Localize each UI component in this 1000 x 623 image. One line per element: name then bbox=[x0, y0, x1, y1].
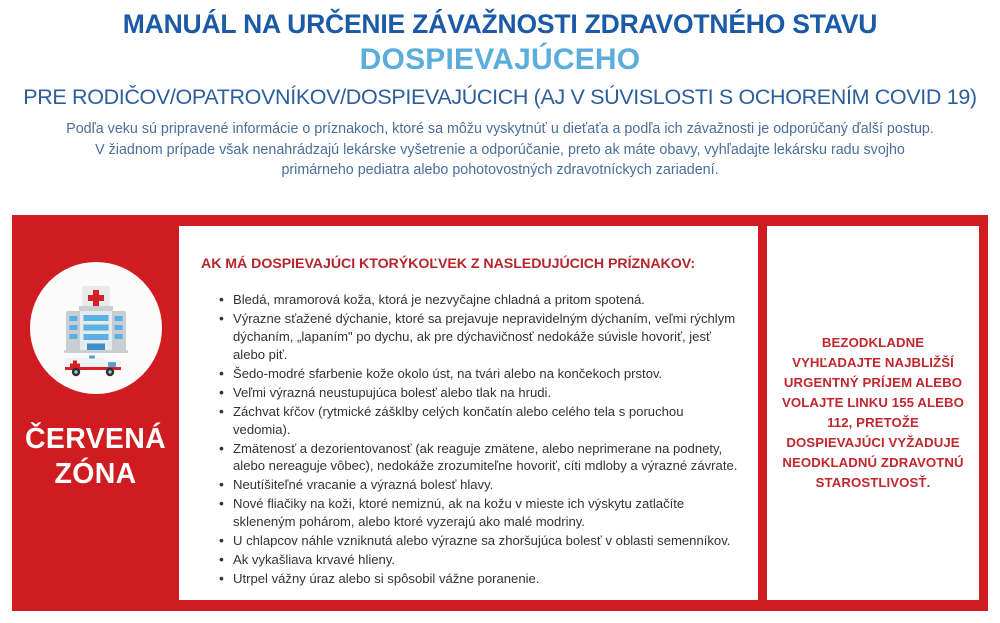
list-item: Ak vykašliava krvavé hlieny. bbox=[219, 551, 738, 569]
list-item: Veľmi výrazná neustupujúca bolesť alebo … bbox=[219, 384, 738, 402]
header: MANUÁL NA URČENIE ZÁVAŽNOSTI ZDRAVOTNÉHO… bbox=[0, 0, 1000, 180]
intro-paragraph: Podľa veku sú pripravené informácie o pr… bbox=[14, 119, 986, 180]
page-subtitle-age-group: DOSPIEVAJÚCEHO bbox=[14, 40, 986, 81]
zone-label-line: ČERVENÁ bbox=[25, 422, 166, 457]
intro-line: V žiadnom prípade však nenahrádzajú leká… bbox=[14, 140, 986, 160]
symptoms-heading: AK MÁ DOSPIEVAJÚCI KTORÝKOĽVEK Z NASLEDU… bbox=[201, 256, 738, 272]
list-item: U chlapcov náhle vzniknutá alebo výrazne… bbox=[219, 532, 738, 550]
recommended-action-box: BEZODKLADNE VYHĽADAJTE NAJBLIŽŠÍ URGENTN… bbox=[767, 226, 979, 600]
zone-label: ČERVENÁ ZÓNA bbox=[25, 422, 166, 492]
list-item: Výrazne sťažené dýchanie, ktoré sa preja… bbox=[219, 310, 738, 364]
symptoms-box: AK MÁ DOSPIEVAJÚCI KTORÝKOĽVEK Z NASLEDU… bbox=[179, 226, 758, 600]
poster-page: MANUÁL NA URČENIE ZÁVAŽNOSTI ZDRAVOTNÉHO… bbox=[0, 0, 1000, 623]
hospital-ambulance-icon bbox=[30, 262, 162, 394]
list-item: Utrpel vážny úraz alebo si spôsobil vážn… bbox=[219, 570, 738, 588]
list-item: Nové fliačiky na koži, ktoré nemiznú, ak… bbox=[219, 495, 738, 531]
list-item: Záchvat kŕčov (rytmické zášklby celých k… bbox=[219, 403, 738, 439]
page-title: MANUÁL NA URČENIE ZÁVAŽNOSTI ZDRAVOTNÉHO… bbox=[14, 9, 986, 40]
audience-subtitle: PRE RODIČOV/OPATROVNÍKOV/DOSPIEVAJÚCICH … bbox=[14, 83, 986, 112]
intro-line: primárneho pediatra alebo pohotovostných… bbox=[14, 160, 986, 180]
zone-identity-column: ČERVENÁ ZÓNA bbox=[12, 226, 179, 600]
red-zone-panel: ČERVENÁ ZÓNA AK MÁ DOSPIEVAJÚCI KTORÝKOĽ… bbox=[12, 215, 988, 611]
symptoms-list: Bledá, mramorová koža, ktorá je nezvyčaj… bbox=[201, 291, 738, 588]
intro-line: Podľa veku sú pripravené informácie o pr… bbox=[14, 119, 986, 139]
recommended-action-text: BEZODKLADNE VYHĽADAJTE NAJBLIŽŠÍ URGENTN… bbox=[779, 333, 967, 494]
list-item: Neutíšiteľné vracanie a výrazná bolesť h… bbox=[219, 476, 738, 494]
list-item: Šedo-modré sfarbenie kože okolo úst, na … bbox=[219, 365, 738, 383]
list-item: Zmätenosť a dezorientovanosť (ak reaguje… bbox=[219, 440, 738, 476]
list-item: Bledá, mramorová koža, ktorá je nezvyčaj… bbox=[219, 291, 738, 309]
zone-label-line: ZÓNA bbox=[25, 457, 166, 492]
